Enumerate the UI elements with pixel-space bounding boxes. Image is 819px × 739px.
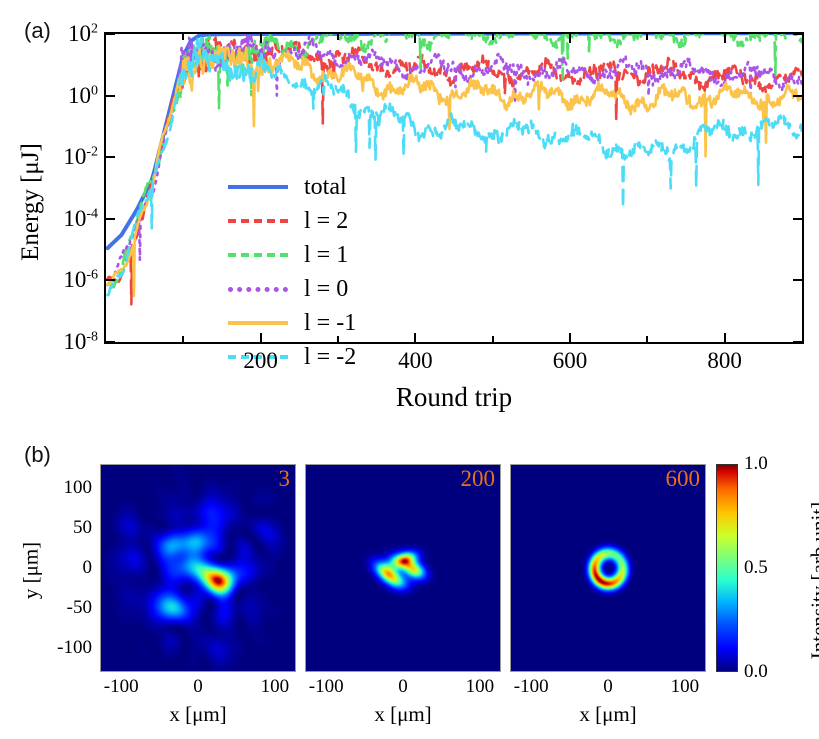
panel-a-y-axis-label: Energy [μJ] — [17, 107, 45, 297]
legend-swatch-l0 — [228, 287, 288, 292]
panel-a-y-tick-label: 10-8 — [0, 329, 98, 355]
panel-a-y-axis: 10210010-210-410-610-8 — [0, 0, 98, 440]
panel-b-x-tick-label: 100 — [671, 676, 700, 698]
panel-a-y-tick — [793, 341, 802, 343]
panel-b-x-tick-label: -100 — [104, 676, 139, 698]
panel-b-x-tick-label: -100 — [514, 676, 549, 698]
legend-label: total — [304, 174, 347, 201]
panel-b-y-tick-label: 100 — [34, 477, 92, 499]
panel-a-y-tick-label: 10-4 — [0, 206, 98, 232]
panel-a-y-tick-label: 102 — [0, 21, 98, 47]
panel-a-x-tick-label: 600 — [553, 348, 588, 374]
round-trip-label-200: 200 — [305, 466, 495, 492]
panel-a-x-tick — [569, 333, 571, 342]
colorbar-gradient — [716, 464, 738, 672]
panel-a-y-tick — [106, 341, 115, 343]
panel-a-x-axis-label: Round trip — [104, 382, 804, 413]
legend-item-l0[interactable]: l = 0 — [228, 272, 443, 306]
panel-a-x-tick — [260, 333, 262, 342]
panel-a-y-tick — [106, 218, 115, 220]
round-trip-label-600: 600 — [510, 466, 700, 492]
panel-a-x-tick — [724, 34, 726, 43]
legend-item-l1[interactable]: l = 1 — [228, 238, 443, 272]
legend-swatch-total — [228, 185, 288, 189]
panel-b-x-axis-label: x [μm] — [100, 702, 296, 727]
legend-label: l = 1 — [304, 242, 348, 269]
legend-label: l = -1 — [304, 310, 356, 337]
panel-a-y-tick — [106, 95, 115, 97]
panel-b-y-tick-label: 0 — [34, 557, 92, 579]
panel-b-y-tick-label: 50 — [34, 517, 92, 539]
panel-a-x-minor-tick — [492, 34, 494, 40]
panel-a-y-tick — [106, 33, 115, 35]
panel-a-y-tick — [106, 279, 115, 281]
legend-swatch-l2 — [228, 219, 288, 223]
panel-a-y-tick-label: 100 — [0, 83, 98, 109]
legend-swatch-l1 — [228, 253, 288, 257]
curve-l0 — [108, 34, 802, 285]
panel-a-x-tick-label: 400 — [398, 348, 433, 374]
panel-a-legend: totall = 2l = 1l = 0l = -1l = -2 — [228, 170, 443, 374]
panel-a-plot-area — [104, 32, 804, 344]
panel-a-x-minor-tick — [182, 336, 184, 342]
legend-label: l = 0 — [304, 276, 348, 303]
colorbar-tick-label: 0.5 — [744, 557, 768, 579]
panel-a-y-tick — [793, 95, 802, 97]
legend-item-l2[interactable]: l = 2 — [228, 204, 443, 238]
panel-b-x-tick-label: 0 — [398, 676, 408, 698]
panel-a-y-tick — [793, 156, 802, 158]
panel-b-x-tick-label: 100 — [261, 676, 290, 698]
panel-a-x-tick-label: 200 — [243, 348, 278, 374]
panel-a-x-minor-tick — [182, 34, 184, 40]
panel-b-y-tick-label: -100 — [34, 637, 92, 659]
panel-b-x-tick-label: 100 — [466, 676, 495, 698]
colorbar-label: Intensity [arb.unit] — [807, 466, 819, 696]
intensity-image-600 — [510, 464, 706, 672]
intensity-image-200 — [305, 464, 501, 672]
intensity-canvas-200 — [306, 465, 500, 671]
panel-b-x-tick-label: 0 — [193, 676, 203, 698]
panel-b-x-axis-label: x [μm] — [510, 702, 706, 727]
intensity-canvas-3 — [101, 465, 295, 671]
panel-a-x-minor-tick — [492, 336, 494, 342]
panel-b-x-axis-label: x [μm] — [305, 702, 501, 727]
panel-a-y-tick — [106, 156, 115, 158]
panel-a-x-tick — [414, 333, 416, 342]
panel-b-y-tick-label: -50 — [34, 597, 92, 619]
panel-b-intensity-images: (b) y [μm] Intensity [arb.unit] 3-100010… — [0, 440, 819, 739]
panel-a-y-tick-label: 10-2 — [0, 144, 98, 170]
legend-label: l = -2 — [304, 344, 356, 371]
panel-a-y-tick — [793, 218, 802, 220]
legend-label: l = 2 — [304, 208, 348, 235]
panel-a-x-tick — [414, 34, 416, 43]
panel-a-y-tick — [793, 33, 802, 35]
panel-b-x-tick-label: 0 — [603, 676, 613, 698]
legend-item-total[interactable]: total — [228, 170, 443, 204]
panel-a-energy-plot: (a) 10210010-210-410-610-8 Energy [μJ] R… — [0, 0, 819, 440]
round-trip-label-3: 3 — [100, 466, 290, 492]
panel-a-y-tick-label: 10-6 — [0, 267, 98, 293]
panel-b-x-tick-label: -100 — [309, 676, 344, 698]
panel-a-y-tick — [793, 279, 802, 281]
panel-a-x-tick — [260, 34, 262, 43]
legend-swatch-l-1 — [228, 321, 288, 325]
panel-a-x-tick — [724, 333, 726, 342]
panel-a-x-minor-tick — [337, 336, 339, 342]
intensity-image-3 — [100, 464, 296, 672]
panel-b-tag: (b) — [24, 442, 51, 468]
panel-a-x-minor-tick — [337, 34, 339, 40]
intensity-canvas-600 — [511, 465, 705, 671]
colorbar-tick-label: 1.0 — [744, 453, 768, 475]
colorbar-tick-label: 0.0 — [744, 661, 768, 683]
panel-a-x-tick — [569, 34, 571, 43]
panel-a-curves — [106, 34, 802, 342]
panel-a-x-tick-label: 800 — [707, 348, 742, 374]
panel-a-x-minor-tick — [646, 336, 648, 342]
panel-a-x-minor-tick — [646, 34, 648, 40]
